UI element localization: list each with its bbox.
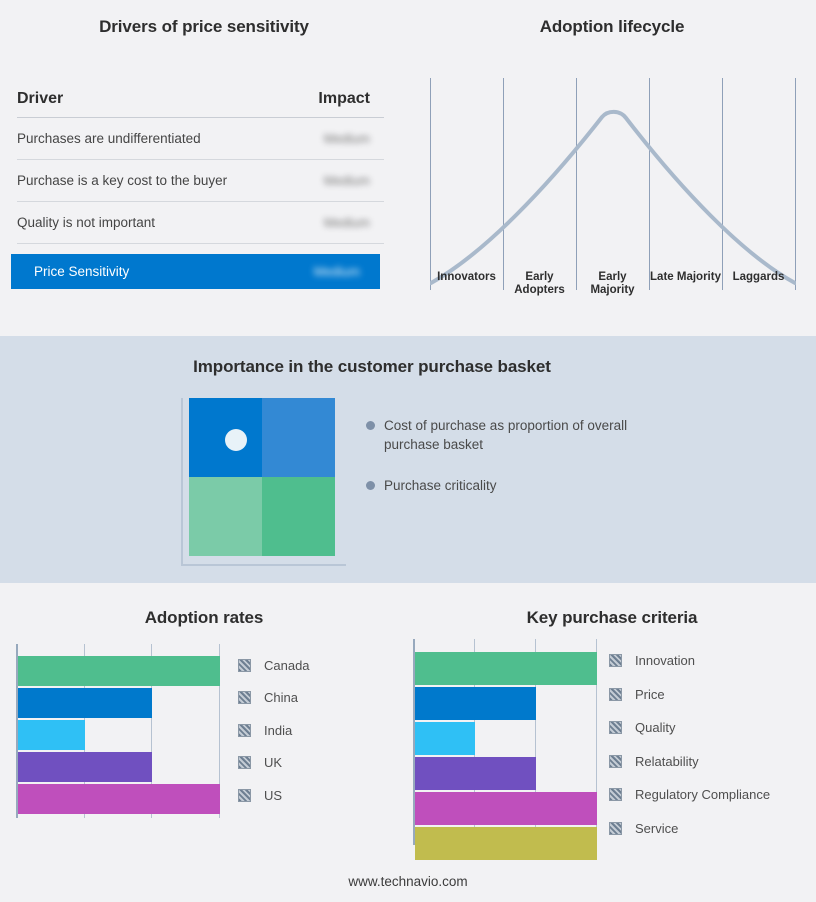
- bar-price: [415, 687, 536, 720]
- legend-item: Canada: [238, 649, 310, 682]
- bar-china: [18, 688, 152, 718]
- stage-early-adopters: Early Adopters: [503, 271, 576, 297]
- legend-item: UK: [238, 747, 310, 780]
- legend-item: Relatability: [609, 745, 770, 779]
- criteria-legend: Innovation Price Quality Relatability Re…: [609, 644, 770, 845]
- adoption-lifecycle-title: Adoption lifecycle: [408, 17, 816, 37]
- legend-label: Quality: [635, 720, 675, 735]
- stage-dividers: [431, 78, 796, 290]
- legend-item: Innovation: [609, 644, 770, 678]
- legend-item: Quality: [609, 711, 770, 745]
- drivers-panel: Drivers of price sensitivity Driver Impa…: [0, 0, 408, 336]
- table-row: Purchases are undifferentiated Medium: [17, 118, 384, 160]
- legend-swatch-icon: [609, 688, 622, 701]
- drivers-table: Driver Impact Purchases are undifferenti…: [17, 90, 384, 289]
- bell-curve-chart: [430, 78, 796, 290]
- legend-item: Service: [609, 812, 770, 846]
- legend-label: US: [264, 788, 282, 803]
- legend-item: China: [238, 682, 310, 715]
- legend-label: India: [264, 723, 292, 738]
- legend-label: Regulatory Compliance: [635, 787, 770, 802]
- bar-uk: [18, 752, 152, 782]
- legend-swatch-icon: [238, 789, 251, 802]
- quadrant-bottom-left: [189, 477, 262, 556]
- table-row: Purchase is a key cost to the buyer Medi…: [17, 160, 384, 202]
- key-purchase-criteria-title: Key purchase criteria: [408, 608, 816, 628]
- stage-early-majority: Early Majority: [576, 271, 649, 297]
- quadrant-bottom-right: [262, 477, 335, 556]
- legend-label: Purchase criticality: [384, 476, 497, 495]
- quadrant-top-right: [262, 398, 335, 477]
- legend-swatch-icon: [238, 724, 251, 737]
- purchase-basket-panel: Importance in the customer purchase bask…: [0, 336, 816, 583]
- legend-label: Service: [635, 821, 678, 836]
- quadrant-top-left: [189, 398, 262, 477]
- stage-late-majority: Late Majority: [649, 271, 722, 297]
- bar-quality: [415, 722, 475, 755]
- driver-label: Purchases are undifferentiated: [17, 131, 280, 146]
- legend-label: Relatability: [635, 754, 699, 769]
- adoption-rates-panel: Adoption rates Canada China India: [0, 583, 408, 902]
- adoption-rates-legend: Canada China India UK US: [238, 649, 310, 812]
- legend-item: Price: [609, 678, 770, 712]
- bar-service: [415, 827, 597, 860]
- quadrant-matrix: [181, 398, 346, 566]
- key-purchase-criteria-panel: Key purchase criteria Innovation Price Q…: [408, 583, 816, 902]
- impact-value: Medium: [280, 131, 384, 146]
- adoption-rates-chart: [16, 644, 226, 818]
- legend-swatch-icon: [238, 659, 251, 672]
- impact-value: Medium: [280, 173, 384, 188]
- adoption-curve: [431, 112, 795, 283]
- price-sensitivity-value: Medium: [270, 264, 380, 279]
- bar-india: [18, 720, 85, 750]
- price-sensitivity-label: Price Sensitivity: [34, 264, 270, 279]
- quadrant-cells: [189, 398, 335, 556]
- legend-swatch-icon: [609, 721, 622, 734]
- legend-label: China: [264, 690, 298, 705]
- adoption-plot-area: [16, 644, 222, 818]
- legend-label: UK: [264, 755, 282, 770]
- bar-us: [18, 784, 220, 814]
- legend-swatch-icon: [238, 756, 251, 769]
- position-marker-icon: [225, 429, 247, 451]
- drivers-title: Drivers of price sensitivity: [0, 17, 408, 37]
- legend-swatch-icon: [609, 822, 622, 835]
- bar-innovation: [415, 652, 597, 685]
- legend-swatch-icon: [609, 788, 622, 801]
- bullet-dot-icon: [366, 421, 375, 430]
- driver-label: Purchase is a key cost to the buyer: [17, 173, 280, 188]
- column-header-driver: Driver: [17, 90, 280, 108]
- impact-value: Medium: [280, 215, 384, 230]
- footer-url: www.technavio.com: [0, 874, 816, 889]
- basket-legend: Cost of purchase as proportion of overal…: [366, 416, 666, 517]
- lifecycle-stage-labels: Innovators Early Adopters Early Majority…: [430, 271, 795, 297]
- bar-canada: [18, 656, 220, 686]
- legend-swatch-icon: [609, 654, 622, 667]
- column-header-impact: Impact: [280, 90, 384, 108]
- purchase-basket-title: Importance in the customer purchase bask…: [0, 357, 744, 377]
- legend-label: Price: [635, 687, 665, 702]
- legend-item: Purchase criticality: [366, 476, 666, 495]
- stage-laggards: Laggards: [722, 271, 795, 297]
- table-row: Quality is not important Medium: [17, 202, 384, 244]
- legend-label: Canada: [264, 658, 310, 673]
- bullet-dot-icon: [366, 481, 375, 490]
- adoption-lifecycle-panel: Adoption lifecycle Innovators Early Adop…: [408, 0, 816, 336]
- legend-swatch-icon: [238, 691, 251, 704]
- legend-item: Regulatory Compliance: [609, 778, 770, 812]
- table-header-row: Driver Impact: [17, 90, 384, 118]
- driver-label: Quality is not important: [17, 215, 280, 230]
- legend-item: Cost of purchase as proportion of overal…: [366, 416, 666, 454]
- bar-relatability: [415, 757, 536, 790]
- adoption-rates-title: Adoption rates: [0, 608, 408, 628]
- bar-regulatory-compliance: [415, 792, 597, 825]
- stage-innovators: Innovators: [430, 271, 503, 297]
- legend-label: Innovation: [635, 653, 695, 668]
- price-sensitivity-summary-row: Price Sensitivity Medium: [11, 254, 380, 289]
- criteria-plot-area: [413, 639, 599, 845]
- legend-item: US: [238, 779, 310, 812]
- criteria-chart: [413, 639, 603, 845]
- legend-swatch-icon: [609, 755, 622, 768]
- legend-label: Cost of purchase as proportion of overal…: [384, 416, 666, 454]
- legend-item: India: [238, 714, 310, 747]
